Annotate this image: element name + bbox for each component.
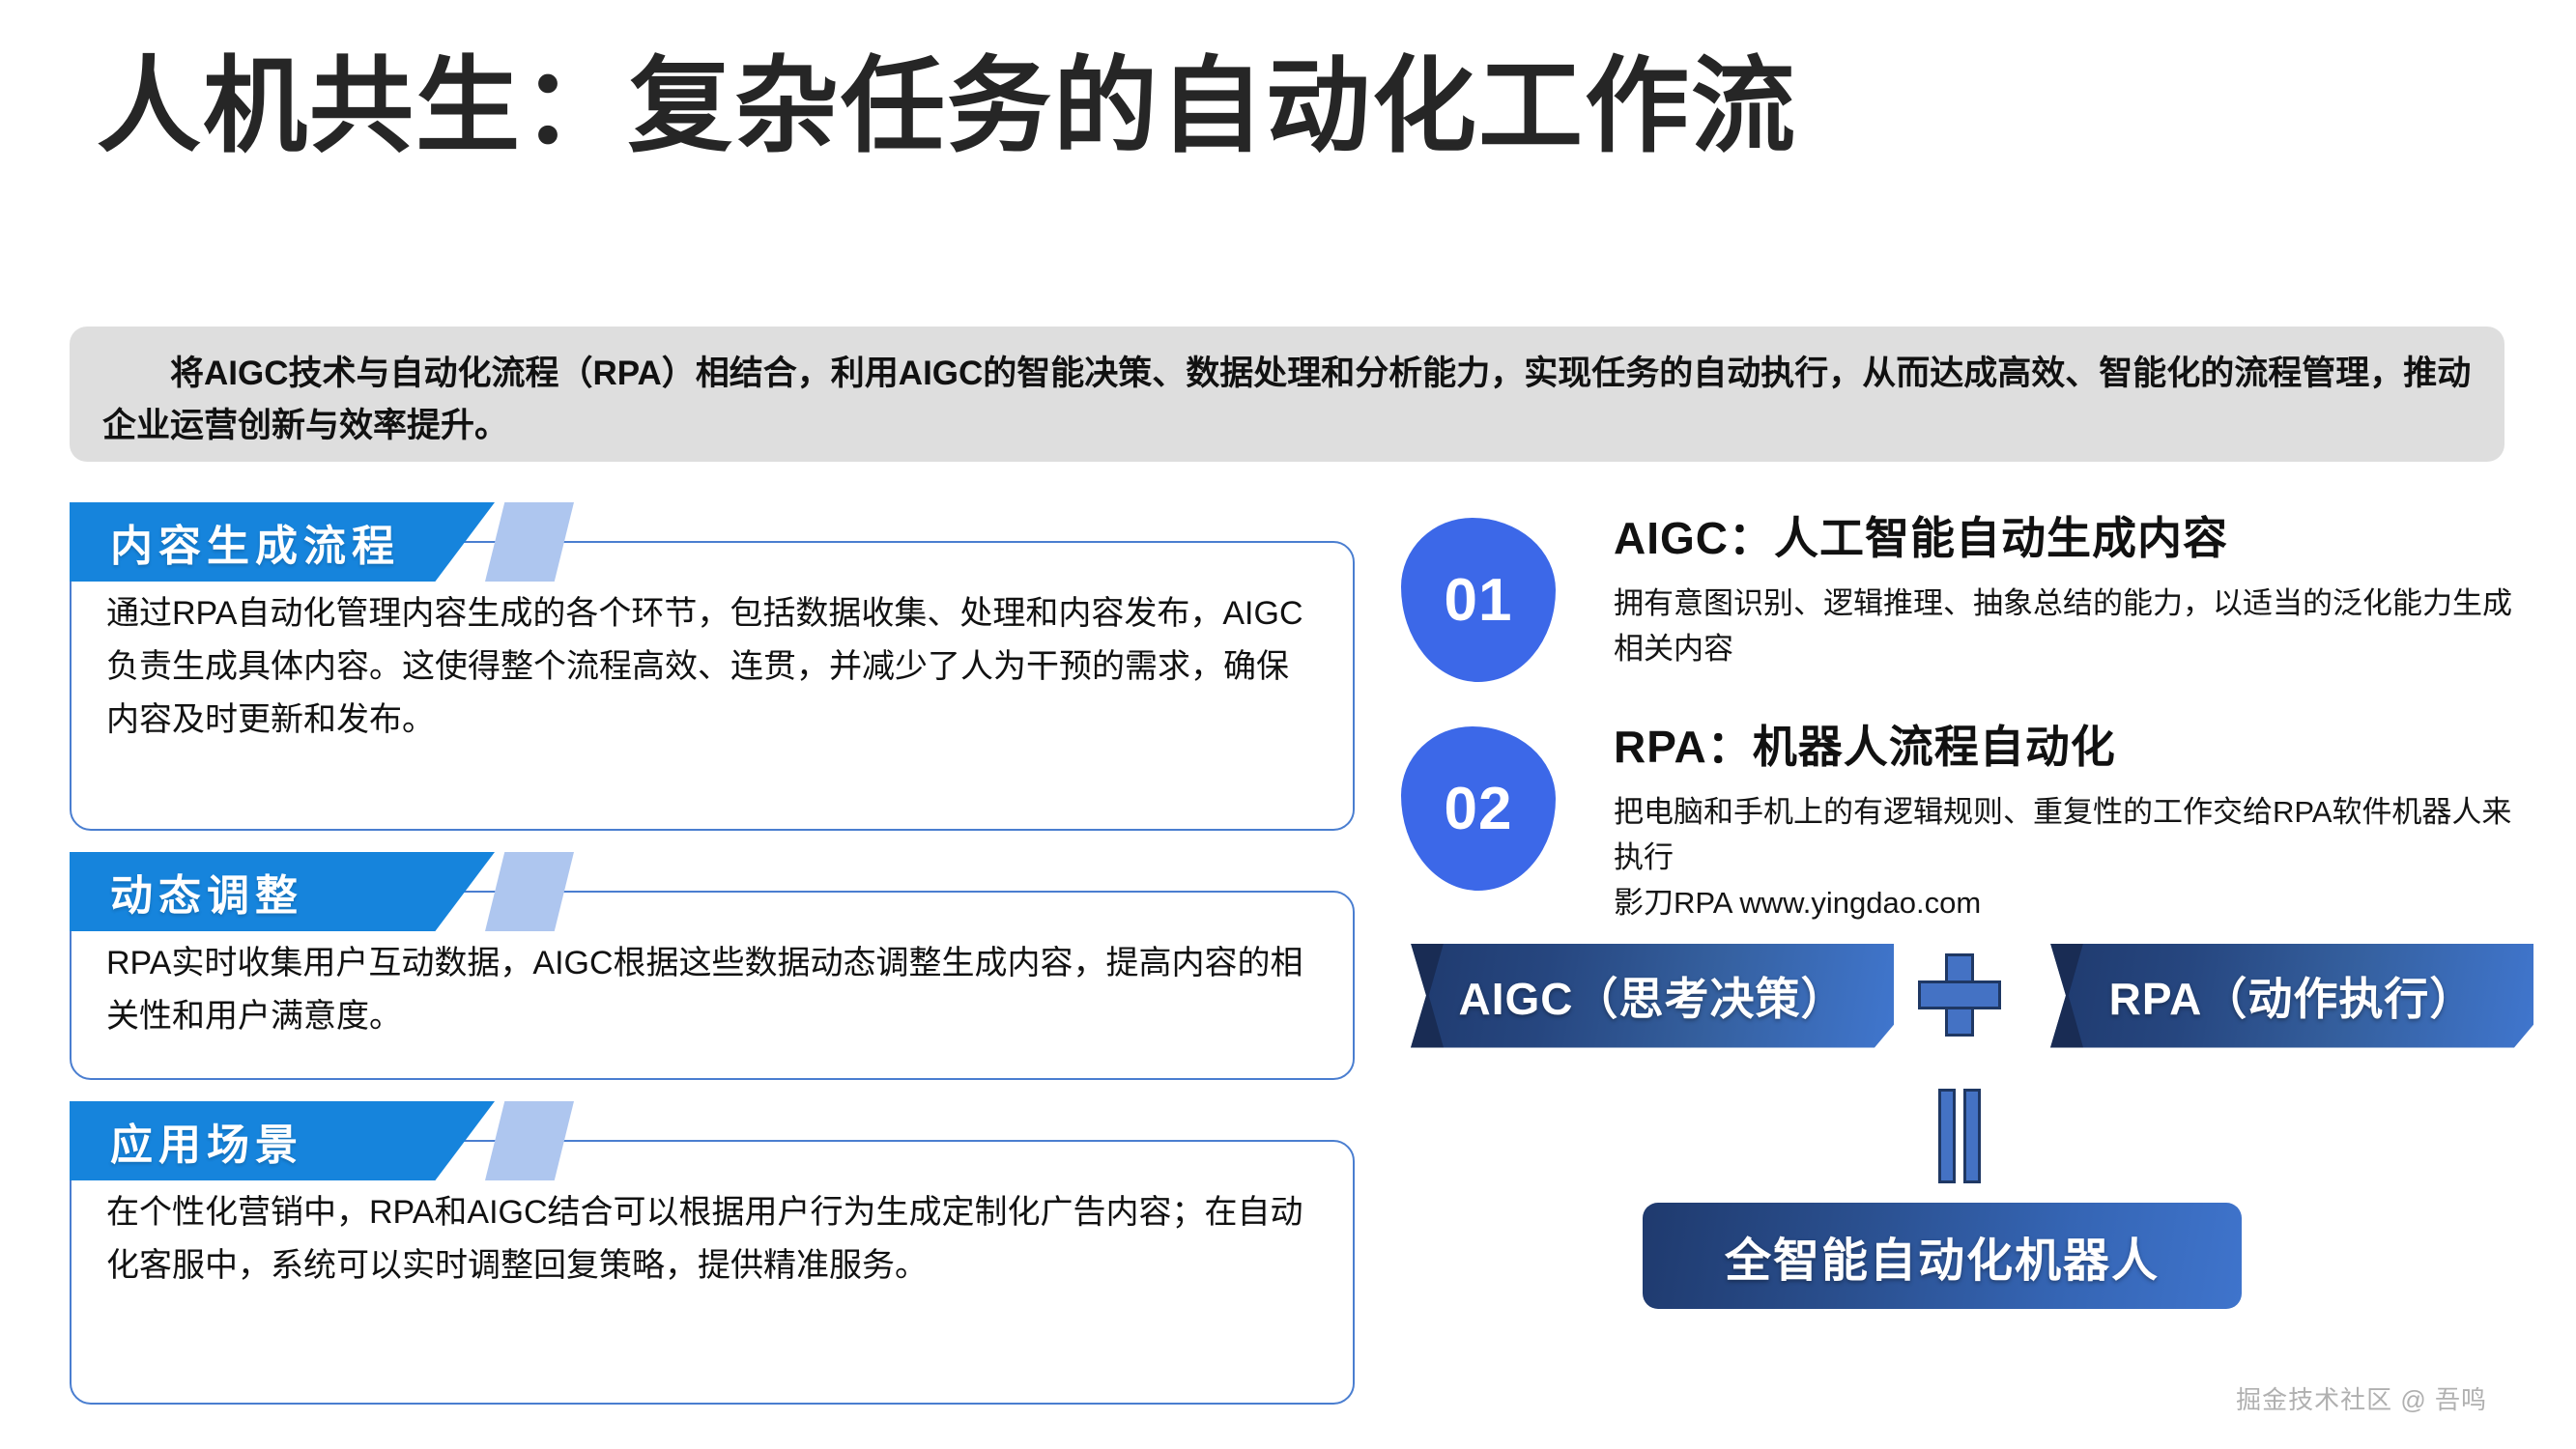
card-header-accent-shape [485,852,574,931]
equation-diagram: AIGC（思考决策） RPA（动作执行） 全智能自动化机器人 [1401,944,2522,1330]
ribbon-aigc-label: AIGC（思考决策） [1459,964,1846,1028]
left-column: 内容生成流程 通过RPA自动化管理内容生成的各个环节，包括数据收集、处理和内容发… [70,502,1355,1426]
watermark: 掘金技术社区 @ 吾鸣 [2236,1380,2487,1416]
result-label: 全智能自动化机器人 [1725,1222,2160,1290]
plus-icon [1918,953,2001,1037]
card-header-banner: 内容生成流程 [70,502,495,582]
card-header: 动态调整 [70,852,611,931]
card-dynamic-adjustment: 动态调整 RPA实时收集用户互动数据，AIGC根据这些数据动态调整生成内容，提高… [70,852,1355,1080]
card-application-scenarios: 应用场景 在个性化营销中，RPA和AIGC结合可以根据用户行为生成定制化广告内容… [70,1101,1355,1405]
page-title: 人机共生：复杂任务的自动化工作流 [97,46,1797,166]
number-blob-shape: 01 [1401,518,1556,682]
card-header-accent-shape [485,1101,574,1180]
item-description: 拥有意图识别、逻辑推理、抽象总结的能力，以适当的泛化能力生成相关内容 [1614,581,2522,671]
equals-icon [1938,1089,1981,1183]
card-header: 应用场景 [70,1101,611,1180]
card-body: 通过RPA自动化管理内容生成的各个环节，包括数据收集、处理和内容发布，AIGC负… [70,541,1355,831]
intro-text: 将AIGC技术与自动化流程（RPA）相结合，利用AIGC的智能决策、数据处理和分… [102,348,2472,453]
equals-icon-bar-bottom [1963,1089,1981,1183]
card-header-accent-shape [485,502,574,582]
card-heading-label: 应用场景 [110,1110,303,1172]
equals-icon-bar-top [1938,1089,1956,1183]
card-content-generation: 内容生成流程 通过RPA自动化管理内容生成的各个环节，包括数据收集、处理和内容发… [70,502,1355,831]
ribbon-aigc: AIGC（思考决策） [1411,944,1894,1048]
intro-box: 将AIGC技术与自动化流程（RPA）相结合，利用AIGC的智能决策、数据处理和分… [70,327,2504,462]
right-column: 01 AIGC：人工智能自动生成内容 拥有意图识别、逻辑推理、抽象总结的能力，以… [1401,502,2522,1330]
numbered-item-rpa: 02 RPA：机器人流程自动化 把电脑和手机上的有逻辑规则、重复性的工作交给RP… [1401,721,2522,926]
card-body-text: 通过RPA自动化管理内容生成的各个环节，包括数据收集、处理和内容发布，AIGC负… [106,587,1318,747]
card-header-banner: 动态调整 [70,852,495,931]
slide-root: 人机共生：复杂任务的自动化工作流 将AIGC技术与自动化流程（RPA）相结合，利… [0,0,2576,1449]
numbered-item-aigc: 01 AIGC：人工智能自动生成内容 拥有意图识别、逻辑推理、抽象总结的能力，以… [1401,512,2522,696]
item-title: RPA：机器人流程自动化 [1614,721,2522,774]
number-blob-shape: 02 [1401,726,1556,891]
number-label: 01 [1445,566,1513,635]
ribbon-rpa-label: RPA（动作执行） [2109,964,2476,1028]
card-body-text: 在个性化营销中，RPA和AIGC结合可以根据用户行为生成定制化广告内容；在自动化… [106,1186,1318,1293]
card-header: 内容生成流程 [70,502,611,582]
card-body-text: RPA实时收集用户互动数据，AIGC根据这些数据动态调整生成内容，提高内容的相关… [106,937,1318,1043]
card-header-banner: 应用场景 [70,1101,495,1180]
ribbon-rpa: RPA（动作执行） [2050,944,2533,1048]
card-heading-label: 内容生成流程 [110,511,400,573]
number-label: 02 [1445,775,1513,843]
card-heading-label: 动态调整 [110,861,303,923]
item-description: 把电脑和手机上的有逻辑规则、重复性的工作交给RPA软件机器人来执行 影刀RPA … [1614,789,2522,925]
item-title: AIGC：人工智能自动生成内容 [1614,512,2522,565]
plus-icon-horizontal-bar [1918,980,2001,1009]
result-box: 全智能自动化机器人 [1643,1203,2242,1309]
